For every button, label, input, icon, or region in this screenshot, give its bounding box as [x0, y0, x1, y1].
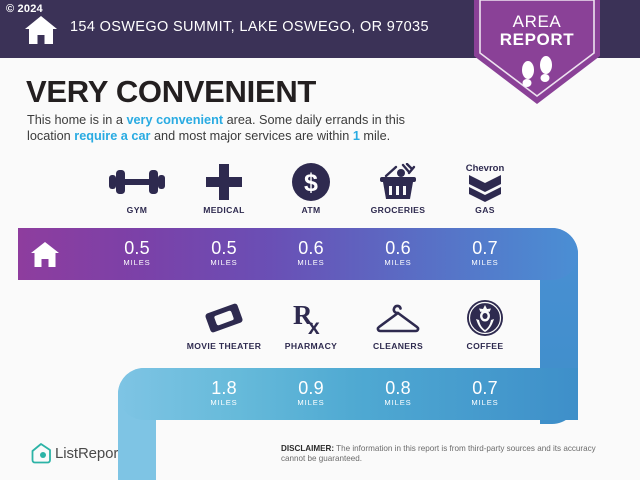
- amenity-label: COFFEE: [435, 341, 535, 351]
- distance-pharmacy: 0.9 MILES: [261, 379, 361, 407]
- property-address: 154 OSWEGO SUMMIT, LAKE OSWEGO, OR 97035: [70, 19, 429, 35]
- amenity-icon-row-1: GYM MEDICAL $ ATM: [0, 162, 640, 224]
- distance-groceries: 0.6 MILES: [348, 239, 448, 267]
- svg-text:$: $: [304, 169, 318, 197]
- rx-icon: R x: [261, 298, 361, 338]
- movie-ticket-icon: [174, 298, 274, 338]
- medical-cross-icon: [174, 162, 274, 202]
- distance-value: 0.6: [348, 239, 448, 258]
- summary-highlight-1: very convenient: [126, 113, 223, 127]
- listreports-house-icon: [30, 442, 52, 464]
- distance-coffee: 0.7 MILES: [435, 379, 535, 407]
- summary-text-3: and most major services are within: [150, 129, 352, 143]
- page-title: VERY CONVENIENT: [26, 74, 316, 110]
- distance-unit: MILES: [435, 398, 535, 407]
- amenity-label: PHARMACY: [261, 341, 361, 351]
- disclaimer: DISCLAIMER: The information in this repo…: [281, 444, 611, 464]
- distance-value: 1.8: [174, 379, 274, 398]
- distance-value: 0.6: [261, 239, 361, 258]
- summary-highlight-3: 1: [353, 129, 360, 143]
- amenity-medical: MEDICAL: [174, 162, 274, 224]
- distance-value: 0.9: [261, 379, 361, 398]
- area-report-badge: AREA REPORT: [474, 0, 600, 106]
- amenity-cleaners: CLEANERS: [348, 298, 448, 360]
- distance-unit: MILES: [174, 258, 274, 267]
- distance-gym: 0.5 MILES: [87, 239, 187, 267]
- amenity-gym: GYM: [87, 162, 187, 224]
- badge-line-2: REPORT: [474, 30, 600, 50]
- amenity-label: GAS: [435, 205, 535, 215]
- summary-text-1: This home is in a: [27, 113, 126, 127]
- svg-text:Chevron: Chevron: [466, 163, 505, 174]
- amenity-pharmacy: R x PHARMACY: [261, 298, 361, 360]
- distance-cleaners: 0.8 MILES: [348, 379, 448, 407]
- distance-gas: 0.7 MILES: [435, 239, 535, 267]
- distance-value: 0.8: [348, 379, 448, 398]
- house-icon: [30, 241, 60, 268]
- distance-unit: MILES: [87, 258, 187, 267]
- distance-unit: MILES: [261, 398, 361, 407]
- amenity-label: GROCERIES: [348, 205, 448, 215]
- amenity-coffee: COFFEE: [435, 298, 535, 360]
- distance-value: 0.5: [87, 239, 187, 258]
- shopping-basket-icon: [348, 162, 448, 202]
- amenity-groceries: GROCERIES: [348, 162, 448, 224]
- distance-unit: MILES: [174, 398, 274, 407]
- amenity-movie-theater: MOVIE THEATER: [174, 298, 274, 360]
- summary-highlight-2: require a car: [74, 129, 150, 143]
- dumbbell-icon: [87, 162, 187, 202]
- distance-unit: MILES: [348, 398, 448, 407]
- clothes-hanger-icon: [348, 298, 448, 338]
- footprints-icon: [515, 56, 559, 90]
- dollar-circle-icon: $: [261, 162, 361, 202]
- summary-text-4: mile.: [360, 129, 390, 143]
- distance-value: 0.5: [174, 239, 274, 258]
- amenity-label: MEDICAL: [174, 205, 274, 215]
- disclaimer-label: DISCLAIMER:: [281, 444, 334, 453]
- badge-line-1: AREA: [474, 12, 600, 32]
- distance-unit: MILES: [348, 258, 448, 267]
- amenity-label: GYM: [87, 205, 187, 215]
- amenity-label: ATM: [261, 205, 361, 215]
- distance-value: 0.7: [435, 379, 535, 398]
- svg-text:x: x: [308, 316, 320, 336]
- distance-medical: 0.5 MILES: [174, 239, 274, 267]
- distance-movie-theater: 1.8 MILES: [174, 379, 274, 407]
- summary-paragraph: This home is in a very convenient area. …: [27, 113, 447, 144]
- house-icon: [24, 14, 58, 46]
- copyright-notice: © 2024: [6, 3, 43, 15]
- amenity-atm: $ ATM: [261, 162, 361, 224]
- amenity-label: MOVIE THEATER: [174, 341, 274, 351]
- distance-atm: 0.6 MILES: [261, 239, 361, 267]
- distance-unit: MILES: [261, 258, 361, 267]
- distance-unit: MILES: [435, 258, 535, 267]
- amenity-label: CLEANERS: [348, 341, 448, 351]
- chevron-logo-icon: Chevron: [435, 162, 535, 202]
- amenity-gas: Chevron GAS: [435, 162, 535, 224]
- area-report-page: 154 OSWEGO SUMMIT, LAKE OSWEGO, OR 97035…: [0, 0, 640, 480]
- distance-value: 0.7: [435, 239, 535, 258]
- starbucks-logo-icon: [435, 298, 535, 338]
